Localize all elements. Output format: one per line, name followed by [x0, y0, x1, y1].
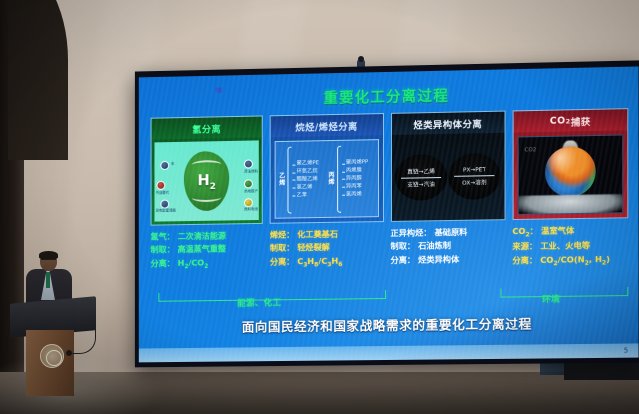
ellipse-callout-1: 直链→乙烯 支链→汽油: [395, 154, 447, 201]
column-header-isomer: 烃类异构体分离: [390, 111, 505, 135]
hydrogen-blob: H2: [184, 151, 229, 211]
brace-propylene: [337, 146, 341, 213]
slide: 重要化工分离过程 氢分离 车: [139, 66, 639, 362]
value-key: 分离：: [270, 255, 294, 269]
melt-puddle: [517, 194, 623, 215]
ellipse-line-top: PX→PET: [463, 167, 486, 173]
value-key: 制取：: [270, 242, 294, 256]
tree-root-propylene: 丙烯: [327, 173, 336, 186]
lectern: [14, 300, 86, 396]
value-key: 制取：: [151, 243, 175, 257]
value-text: 烃类异构体: [418, 253, 459, 267]
column-graphic-alkane-alkene: 乙烯 聚乙烯PE 环氧乙烷 醋酸乙烯 氯乙烯 乙苯: [270, 135, 384, 224]
cogeneration-icon: [244, 179, 253, 188]
column-header-hydrogen: 氢分离: [151, 115, 263, 139]
wind-storage-icon: [161, 199, 170, 208]
value-text: 温室气体: [541, 224, 574, 238]
slide-bottom-band: 5: [139, 343, 639, 362]
column-hydrogen-separation: 氢分离 车 汽油替代 风电配套储能 清洁燃料: [151, 115, 263, 225]
melting-earth-photo: CO2: [517, 134, 623, 214]
value-key: 氢气：: [151, 230, 175, 244]
value-key: 分离：: [512, 254, 537, 268]
photo-caption-co2: CO2: [524, 147, 536, 153]
value-key: 来源：: [512, 240, 537, 254]
tree-propylene: 丙烯 聚丙烯PP 丙烯腈 异丙醇 异丙苯 氯丙烯: [327, 143, 375, 215]
hydrogen-formula: H2: [197, 171, 216, 192]
bracket-label-environment: 环境: [539, 293, 563, 305]
value-key: 分离：: [390, 253, 415, 267]
slide-title: 重要化工分离过程: [139, 81, 639, 112]
ellipse-group: 直链→乙烯 支链→汽油 PX→PET OX→溶剂: [394, 136, 501, 218]
values-isomer: 正异构烃：基础原料 制取：石油炼制 分离：烃类异构体: [390, 225, 505, 271]
lectern-column: [26, 330, 74, 396]
icon-label-car: 车: [171, 163, 174, 166]
value-key: 正异构烃：: [390, 226, 431, 240]
values-co2-capture: CO2：温室气体 来源：工业、火电等 分离：CO2/CO(N2, H2): [512, 223, 628, 269]
column-graphic-hydrogen: 车 汽油替代 风电配套储能 清洁燃料 热电联产 燃料电池 H2: [151, 137, 263, 225]
icon-label-fuelcell: 燃料电池: [244, 208, 258, 212]
icon-label-wind: 风电配套储能: [156, 209, 177, 213]
earth-globe-icon: [545, 146, 596, 197]
ellipse-divider: [401, 177, 441, 179]
ellipse-divider: [454, 175, 494, 177]
ellipse-line-bottom: OX→溶剂: [462, 178, 486, 186]
value-row-group: 氢气：二次清洁能源 制取：高温蒸气重整 分离：H2/CO2 烯烃：化工奠基石 制…: [151, 223, 629, 274]
ellipse-line-bottom: 支链→汽油: [407, 180, 435, 188]
value-text-formula: H2/CO2: [178, 256, 209, 272]
value-text: 轻烃裂解: [297, 241, 330, 255]
speaker-tie: [46, 272, 50, 288]
value-text: 化工奠基石: [297, 228, 338, 242]
column-graphic-co2-capture: CO2: [512, 130, 628, 220]
derivative-tree-group: 乙烯 聚乙烯PE 环氧乙烷 醋酸乙烯 氯乙烯 乙苯: [275, 139, 379, 219]
speaker-hair: [39, 251, 58, 259]
speaker-glasses-icon: [41, 259, 56, 263]
icon-label-gasoline: 汽油替代: [156, 191, 170, 195]
icon-label-cleanfuel: 清洁燃料: [244, 170, 258, 174]
value-row: CO2：温室气体: [512, 223, 628, 240]
projection-screen: 重要化工分离过程 氢分离 车: [135, 60, 639, 367]
value-key: CO2：: [512, 225, 538, 241]
icon-label-cogen: 热电联产: [244, 190, 258, 194]
value-text-formula: C3H8/C3H6: [297, 254, 342, 270]
bracket-environment: [500, 287, 628, 298]
brace-ethylene: [288, 147, 292, 214]
value-row: 分离：C3H8/C3H6: [270, 254, 384, 271]
bracket-label-energy-chemical: 能源、化工: [234, 296, 284, 309]
ellipse-line-top: 直链→乙烯: [407, 167, 435, 175]
value-row: 分离：H2/CO2: [151, 255, 263, 272]
fuel-cell-icon: [244, 198, 253, 207]
value-text: 二次清洁能源: [178, 229, 226, 243]
value-text: 石油炼制: [418, 239, 451, 253]
microphone-head-icon: [66, 350, 72, 356]
values-hydrogen: 氢气：二次清洁能源 制取：高温蒸气重整 分离：H2/CO2: [151, 229, 263, 274]
column-co2-capture: CO2捕获 CO2: [512, 108, 628, 220]
bracket-group: 能源、化工 环境: [151, 287, 629, 315]
value-text: 基础原料: [435, 226, 468, 240]
tree-ethylene: 乙烯 聚乙烯PE 环氧乙烷 醋酸乙烯 氯乙烯 乙苯: [278, 144, 326, 216]
tree-root-ethylene: 乙烯: [278, 174, 287, 187]
room-arch-shadow: [8, 0, 68, 160]
institution-emblem: [40, 344, 64, 368]
slide-footer: 面向国民经济和国家战略需求的重要化工分离过程: [139, 312, 639, 337]
value-key: 烯烃：: [270, 228, 294, 242]
value-row: 分离：烃类异构体: [390, 252, 505, 267]
hydrogen-infographic: 车 汽油替代 风电配套储能 清洁燃料 热电联产 燃料电池 H2: [154, 140, 259, 221]
list-item: 氯丙烯: [342, 191, 376, 200]
value-text: 工业、火电等: [540, 239, 590, 253]
ellipse-callout-2: PX→PET OX→溶剂: [448, 153, 500, 200]
column-graphic-isomer: 直链→乙烯 支链→汽油 PX→PET OX→溶剂: [390, 133, 505, 222]
value-text-formula: CO2/CO(N2, H2): [540, 252, 610, 268]
column-header-alkane-alkene: 烷烃/烯烃分离: [270, 113, 384, 137]
list-item: 乙苯: [293, 191, 326, 200]
column-alkane-alkene-separation: 烷烃/烯烃分离 乙烯 聚乙烯PE 环氧乙烷 醋酸乙烯 氯乙烯: [270, 113, 384, 224]
value-key: 分离：: [151, 257, 175, 270]
column-isomer-separation: 烃类异构体分离 直链→乙烯 支链→汽油 PX→PET OX→溶剂: [390, 111, 505, 222]
value-text: 高温蒸气重整: [178, 243, 226, 257]
column-group: 氢分离 车 汽油替代 风电配套储能 清洁燃料: [151, 108, 629, 226]
column-header-co2-capture: CO2捕获: [512, 108, 628, 132]
slide-page-number: 5: [624, 347, 629, 355]
value-row: 分离：CO2/CO(N2, H2): [512, 252, 628, 269]
values-alkane-alkene: 烯烃：化工奠基石 制取：轻烃裂解 分离：C3H8/C3H6: [270, 227, 384, 273]
photo-of-conference-room: 重要化工分离过程 氢分离 车: [0, 0, 639, 414]
gasoline-icon: [157, 181, 166, 190]
car-icon: [161, 161, 170, 170]
value-key: 制取：: [390, 240, 415, 254]
clean-fuel-icon: [244, 160, 253, 169]
